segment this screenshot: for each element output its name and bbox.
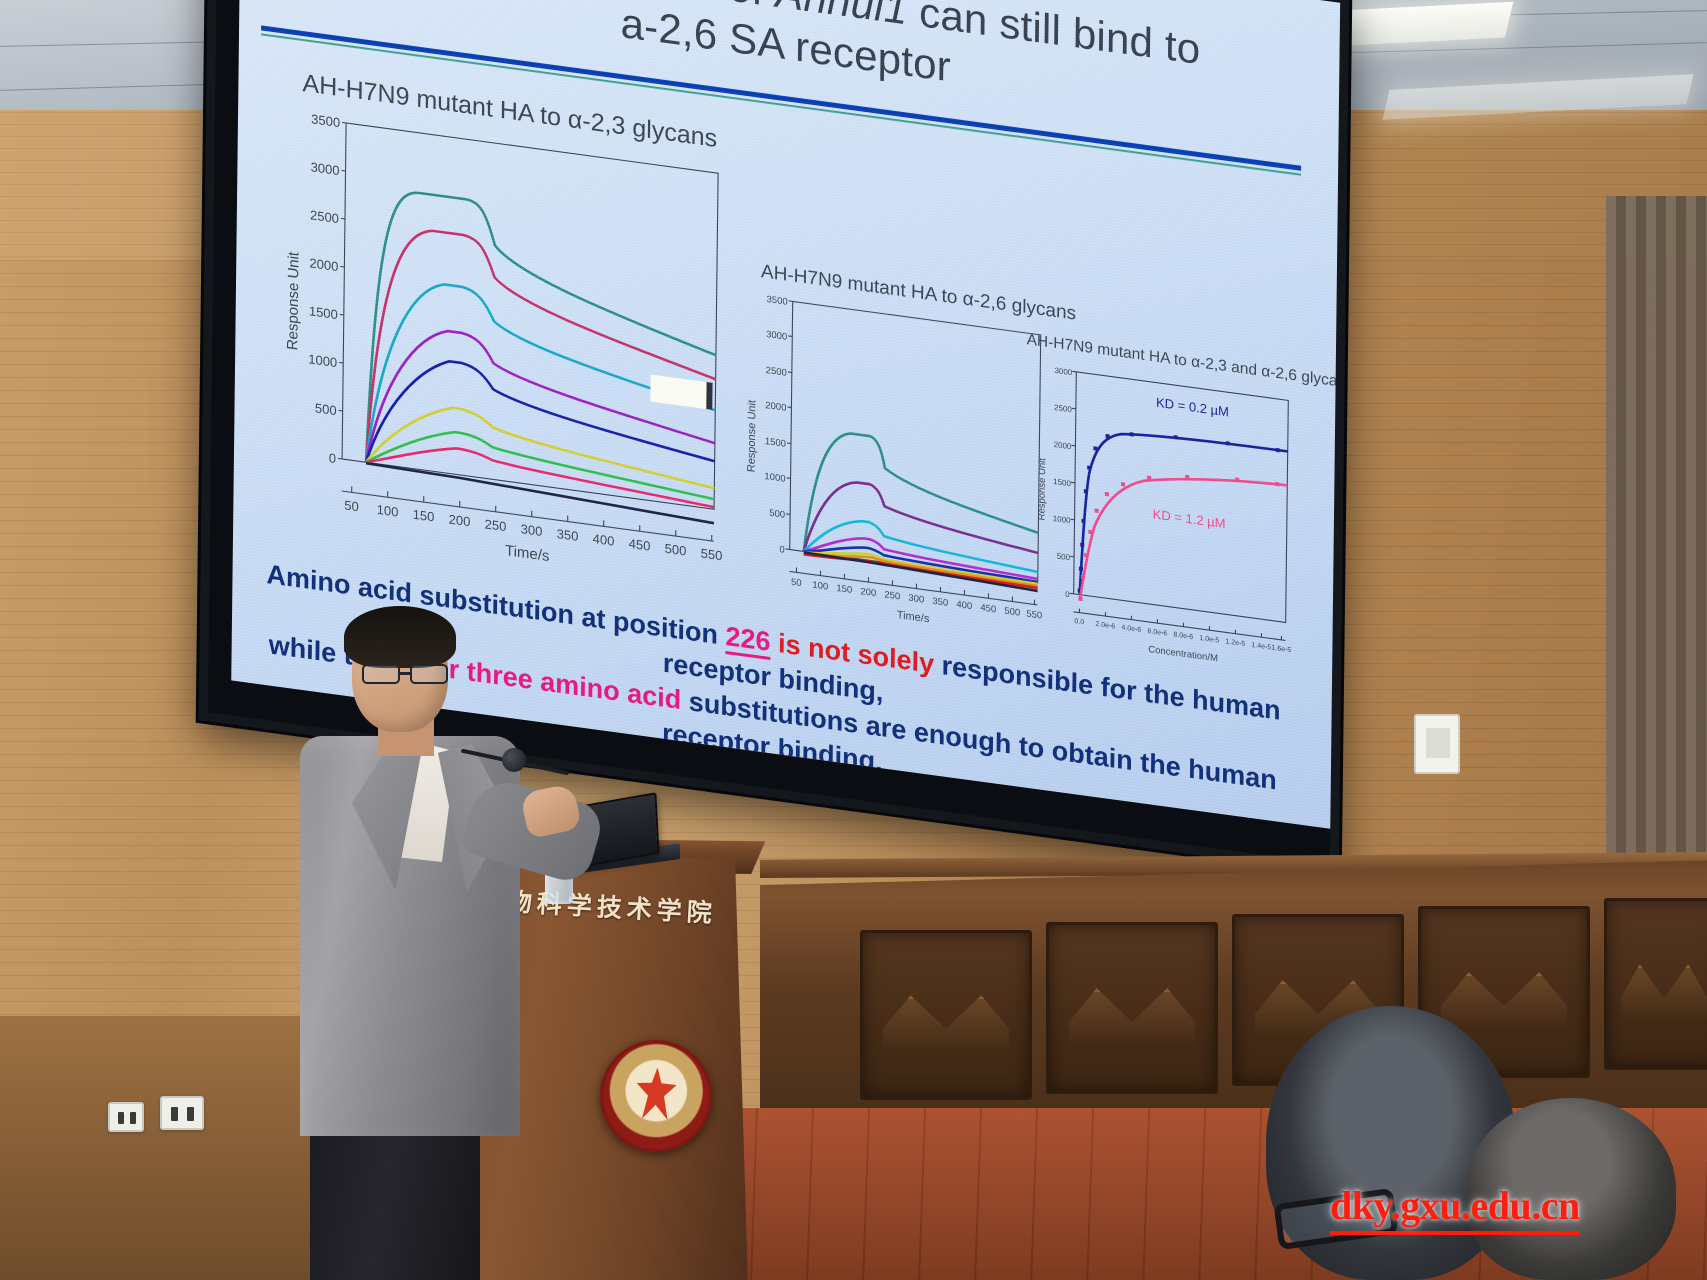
svg-text:2500: 2500 xyxy=(310,207,339,226)
svg-text:50: 50 xyxy=(791,577,802,589)
svg-text:3500: 3500 xyxy=(766,294,787,308)
title-part-bind-to: can still bind to xyxy=(907,0,1201,73)
table-front-panel xyxy=(1046,922,1218,1094)
svg-text:500: 500 xyxy=(665,541,687,559)
chart-1-svg: 3500 3000 2500 2000 1500 1000 500 0 Resp… xyxy=(269,95,744,588)
window-curtain xyxy=(1606,196,1707,896)
svg-text:1.0e-5: 1.0e-5 xyxy=(1199,635,1219,645)
svg-text:300: 300 xyxy=(521,521,543,539)
svg-text:450: 450 xyxy=(629,536,651,554)
chart-2-ylabel: Response Unit xyxy=(746,399,759,473)
svg-text:400: 400 xyxy=(956,599,972,612)
svg-text:2500: 2500 xyxy=(1054,403,1072,414)
chart-2: 3500 3000 2500 2000 1500 1000 500 0 Resp… xyxy=(731,280,1065,655)
svg-text:1000: 1000 xyxy=(1053,514,1071,525)
chart-3-annotation-kd-2: KD = 1.2 µM xyxy=(1153,506,1226,531)
svg-text:1500: 1500 xyxy=(309,303,338,322)
svg-text:150: 150 xyxy=(413,507,435,525)
ceiling-light xyxy=(1333,2,1514,47)
wall-access-panel xyxy=(1414,714,1460,774)
highlight-226: 226 xyxy=(725,621,770,660)
chart-3-svg: 3000 2500 2000 1500 1000 500 0 Response … xyxy=(1023,353,1306,681)
svg-text:2000: 2000 xyxy=(309,255,338,274)
svg-text:2000: 2000 xyxy=(765,400,786,414)
chart-3-annotation-kd-1: KD = 0.2 µM xyxy=(1156,395,1229,420)
svg-text:200: 200 xyxy=(860,586,876,599)
svg-text:2.0e-6: 2.0e-6 xyxy=(1095,621,1115,631)
svg-text:3000: 3000 xyxy=(1054,366,1072,377)
svg-text:2500: 2500 xyxy=(766,365,787,379)
svg-text:50: 50 xyxy=(344,497,359,514)
svg-text:550: 550 xyxy=(701,546,723,564)
wall-socket[interactable] xyxy=(160,1096,204,1130)
svg-text:500: 500 xyxy=(769,508,785,521)
svg-text:500: 500 xyxy=(1057,552,1071,563)
chart-3-xlabel: Concentration/M xyxy=(1148,644,1218,664)
svg-text:3000: 3000 xyxy=(311,159,340,178)
svg-text:300: 300 xyxy=(908,593,924,606)
svg-text:4.0e-6: 4.0e-6 xyxy=(1121,624,1141,634)
chart-2-xlabel: Time/s xyxy=(897,609,930,625)
svg-text:2000: 2000 xyxy=(1054,440,1072,451)
chart-2-series xyxy=(804,427,1040,591)
svg-text:3000: 3000 xyxy=(766,329,787,343)
svg-text:100: 100 xyxy=(812,580,828,593)
svg-text:0: 0 xyxy=(329,450,336,466)
table-front-panel xyxy=(1604,898,1707,1070)
table-front-panel xyxy=(860,930,1032,1100)
wall-baseboard xyxy=(0,1016,330,1280)
svg-text:0: 0 xyxy=(1065,590,1070,600)
chart-1: 3500 3000 2500 2000 1500 1000 500 0 Resp… xyxy=(269,95,744,588)
speaker-hair xyxy=(344,606,456,668)
svg-text:1.2e-5: 1.2e-5 xyxy=(1225,638,1245,648)
chart-1-ylabel: Response Unit xyxy=(284,250,302,351)
site-watermark: dky.gxu.edu.cn xyxy=(1330,1182,1580,1235)
chart-2-svg: 3500 3000 2500 2000 1500 1000 500 0 Resp… xyxy=(731,280,1065,655)
svg-text:6.0e-6: 6.0e-6 xyxy=(1147,628,1167,638)
svg-text:1000: 1000 xyxy=(764,471,785,485)
chart-1-series xyxy=(366,186,717,523)
svg-text:250: 250 xyxy=(884,589,900,602)
svg-text:1.4e-5: 1.4e-5 xyxy=(1251,642,1271,652)
microphone-head xyxy=(502,748,526,772)
svg-text:400: 400 xyxy=(593,531,615,549)
svg-text:350: 350 xyxy=(932,596,948,609)
svg-text:250: 250 xyxy=(485,516,507,534)
svg-text:500: 500 xyxy=(1004,606,1020,619)
svg-text:1500: 1500 xyxy=(1053,477,1071,488)
svg-text:8.0e-6: 8.0e-6 xyxy=(1173,631,1193,641)
svg-text:3500: 3500 xyxy=(311,111,340,130)
svg-text:200: 200 xyxy=(449,512,471,530)
svg-text:1.6e-5: 1.6e-5 xyxy=(1271,645,1291,655)
chart-3-series: KD = 0.2 µM KD = 1.2 µM xyxy=(1078,384,1289,628)
speaker-glasses xyxy=(362,664,454,684)
chart-3-ylabel: Response Unit xyxy=(1037,457,1049,521)
wall-socket[interactable] xyxy=(108,1102,144,1132)
svg-text:0.0: 0.0 xyxy=(1074,618,1084,626)
chart-1-xlabel: Time/s xyxy=(505,542,550,565)
svg-text:1500: 1500 xyxy=(765,436,786,450)
svg-text:100: 100 xyxy=(377,502,399,520)
svg-text:450: 450 xyxy=(980,602,996,615)
svg-text:150: 150 xyxy=(836,583,852,596)
presentation-room-photo: HA-L226Q mutant of Anhui1 can still bind… xyxy=(0,0,1707,1280)
svg-text:350: 350 xyxy=(557,526,579,544)
svg-text:500: 500 xyxy=(315,400,337,418)
chart-3: 3000 2500 2000 1500 1000 500 0 Response … xyxy=(1023,353,1306,681)
svg-text:1000: 1000 xyxy=(308,351,337,370)
svg-text:0: 0 xyxy=(779,544,784,556)
